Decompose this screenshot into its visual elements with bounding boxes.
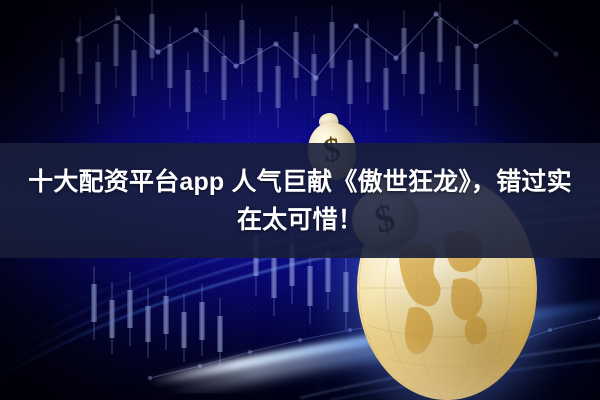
headline-line-2: 在太可惜！ bbox=[237, 201, 363, 239]
banner-image: $ $ 十大配资平台app 人气巨献《傲世狂龙》，错过实 在太可惜！ bbox=[0, 0, 600, 400]
headline-line-1: 十大配资平台app 人气巨献《傲世狂龙》，错过实 bbox=[28, 163, 572, 201]
headline-text: 十大配资平台app 人气巨献《傲世狂龙》，错过实 在太可惜！ bbox=[0, 143, 600, 258]
